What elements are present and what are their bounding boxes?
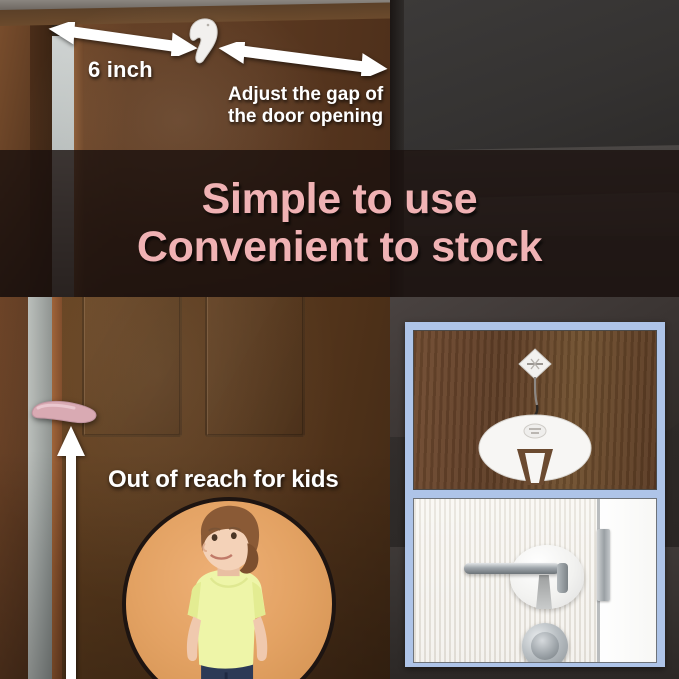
white-door-handle-photo bbox=[413, 498, 657, 663]
lever-handle-base-icon bbox=[557, 563, 568, 593]
out-of-reach-label: Out of reach for kids bbox=[108, 466, 339, 494]
adjust-gap-label: Adjust the gap of the door opening bbox=[228, 84, 390, 128]
double-headed-arrow-icon bbox=[48, 22, 198, 56]
child-photo bbox=[126, 501, 332, 679]
headline-line-1: Simple to use bbox=[202, 177, 478, 223]
white-door-pinch-guard-icon bbox=[185, 18, 219, 64]
adhesive-hook-icon bbox=[517, 347, 553, 419]
blue-photo-frame bbox=[405, 322, 665, 667]
frame-divider bbox=[413, 490, 657, 498]
headline-line-2: Convenient to stock bbox=[137, 225, 542, 271]
round-lock-knob-icon bbox=[522, 623, 568, 663]
up-arrow-icon bbox=[57, 426, 85, 679]
adjust-gap-line2: the door opening bbox=[228, 106, 390, 128]
lever-handle-icon bbox=[464, 563, 560, 574]
wood-door-with-hook-photo bbox=[413, 330, 657, 490]
measure-label: 6 inch bbox=[88, 57, 153, 83]
child-photo-circle bbox=[122, 497, 336, 679]
white-oval-guard-icon bbox=[510, 545, 584, 609]
pink-door-pinch-guard-icon bbox=[30, 400, 98, 426]
adjust-gap-line1: Adjust the gap of bbox=[228, 84, 390, 106]
double-headed-arrow-icon bbox=[218, 42, 388, 76]
headline-banner: Simple to use Convenient to stock bbox=[0, 150, 679, 297]
strike-plate-icon bbox=[597, 529, 610, 601]
product-photos-panel bbox=[390, 297, 679, 679]
product-infographic: 6 inch Adjust the gap of the door openin… bbox=[0, 0, 679, 679]
white-oval-guard-icon bbox=[477, 413, 593, 487]
